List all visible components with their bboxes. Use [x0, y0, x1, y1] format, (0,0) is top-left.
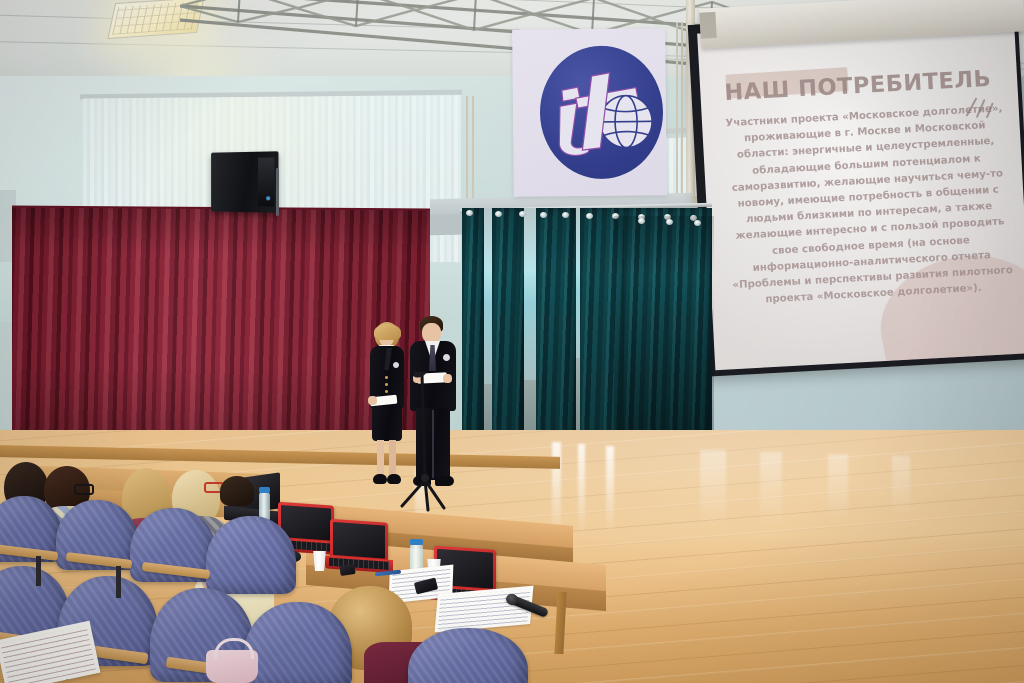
laptop-red-2[interactable] — [328, 519, 396, 578]
seat-leg-2 — [116, 566, 121, 598]
window-curtains-teal-right[interactable] — [614, 216, 714, 462]
presenter-man-badge — [443, 354, 450, 361]
hanging-cord-3 — [676, 22, 678, 210]
presenter-woman-shoe-right — [387, 474, 401, 484]
seat-leg-1 — [36, 556, 41, 586]
handbag — [206, 650, 258, 683]
presenter-woman-shoe-left — [373, 474, 387, 484]
floor-reflection-5 — [760, 452, 782, 526]
presenter-woman-hands — [368, 396, 377, 405]
loudspeaker — [211, 151, 278, 212]
mobile-phone[interactable] — [339, 564, 355, 576]
presenter-woman-button-3 — [385, 390, 388, 393]
presenter-woman-button-1 — [385, 376, 388, 379]
presenter-woman-leg-left — [377, 440, 384, 478]
speaker-cable — [276, 168, 279, 216]
presenter-woman-hair-front — [374, 324, 401, 340]
presenter-woman-badge — [393, 362, 399, 368]
floor-reflection-2 — [578, 444, 585, 536]
attendee-2-glasses-icon — [74, 484, 94, 495]
presenter-woman-skirt — [372, 406, 402, 441]
presenter-woman-button-2 — [385, 383, 388, 386]
conference-hall-photo: НАШ ПОТРЕБИТЕЛЬ Участники проекта «Моско… — [0, 0, 1024, 683]
presenter-man-face — [422, 323, 441, 343]
projection-screen-frame: НАШ ПОТРЕБИТЕЛЬ Участники проекта «Моско… — [688, 7, 1024, 376]
projection-screen: НАШ ПОТРЕБИТЕЛЬ Участники проекта «Моско… — [697, 17, 1024, 371]
attendee-7-hair — [220, 476, 254, 506]
floor-reflection-6 — [828, 454, 848, 524]
slide-body-text: Участники проекта «Московское долголетие… — [716, 101, 1022, 311]
floor-reflection-7 — [892, 456, 910, 518]
microphone-stand[interactable] — [400, 372, 470, 512]
floor-reflection-4 — [700, 450, 726, 528]
hanging-cord-4 — [681, 22, 683, 210]
sparkle-icon — [962, 92, 998, 124]
hanging-cord-1 — [466, 96, 468, 206]
ito-logo-icon — [539, 45, 663, 179]
presenter-woman-leg-right — [389, 440, 396, 478]
floor-reflection-3 — [606, 446, 614, 534]
wall-logo-banner — [512, 28, 667, 197]
hanging-cord-2 — [472, 96, 474, 208]
